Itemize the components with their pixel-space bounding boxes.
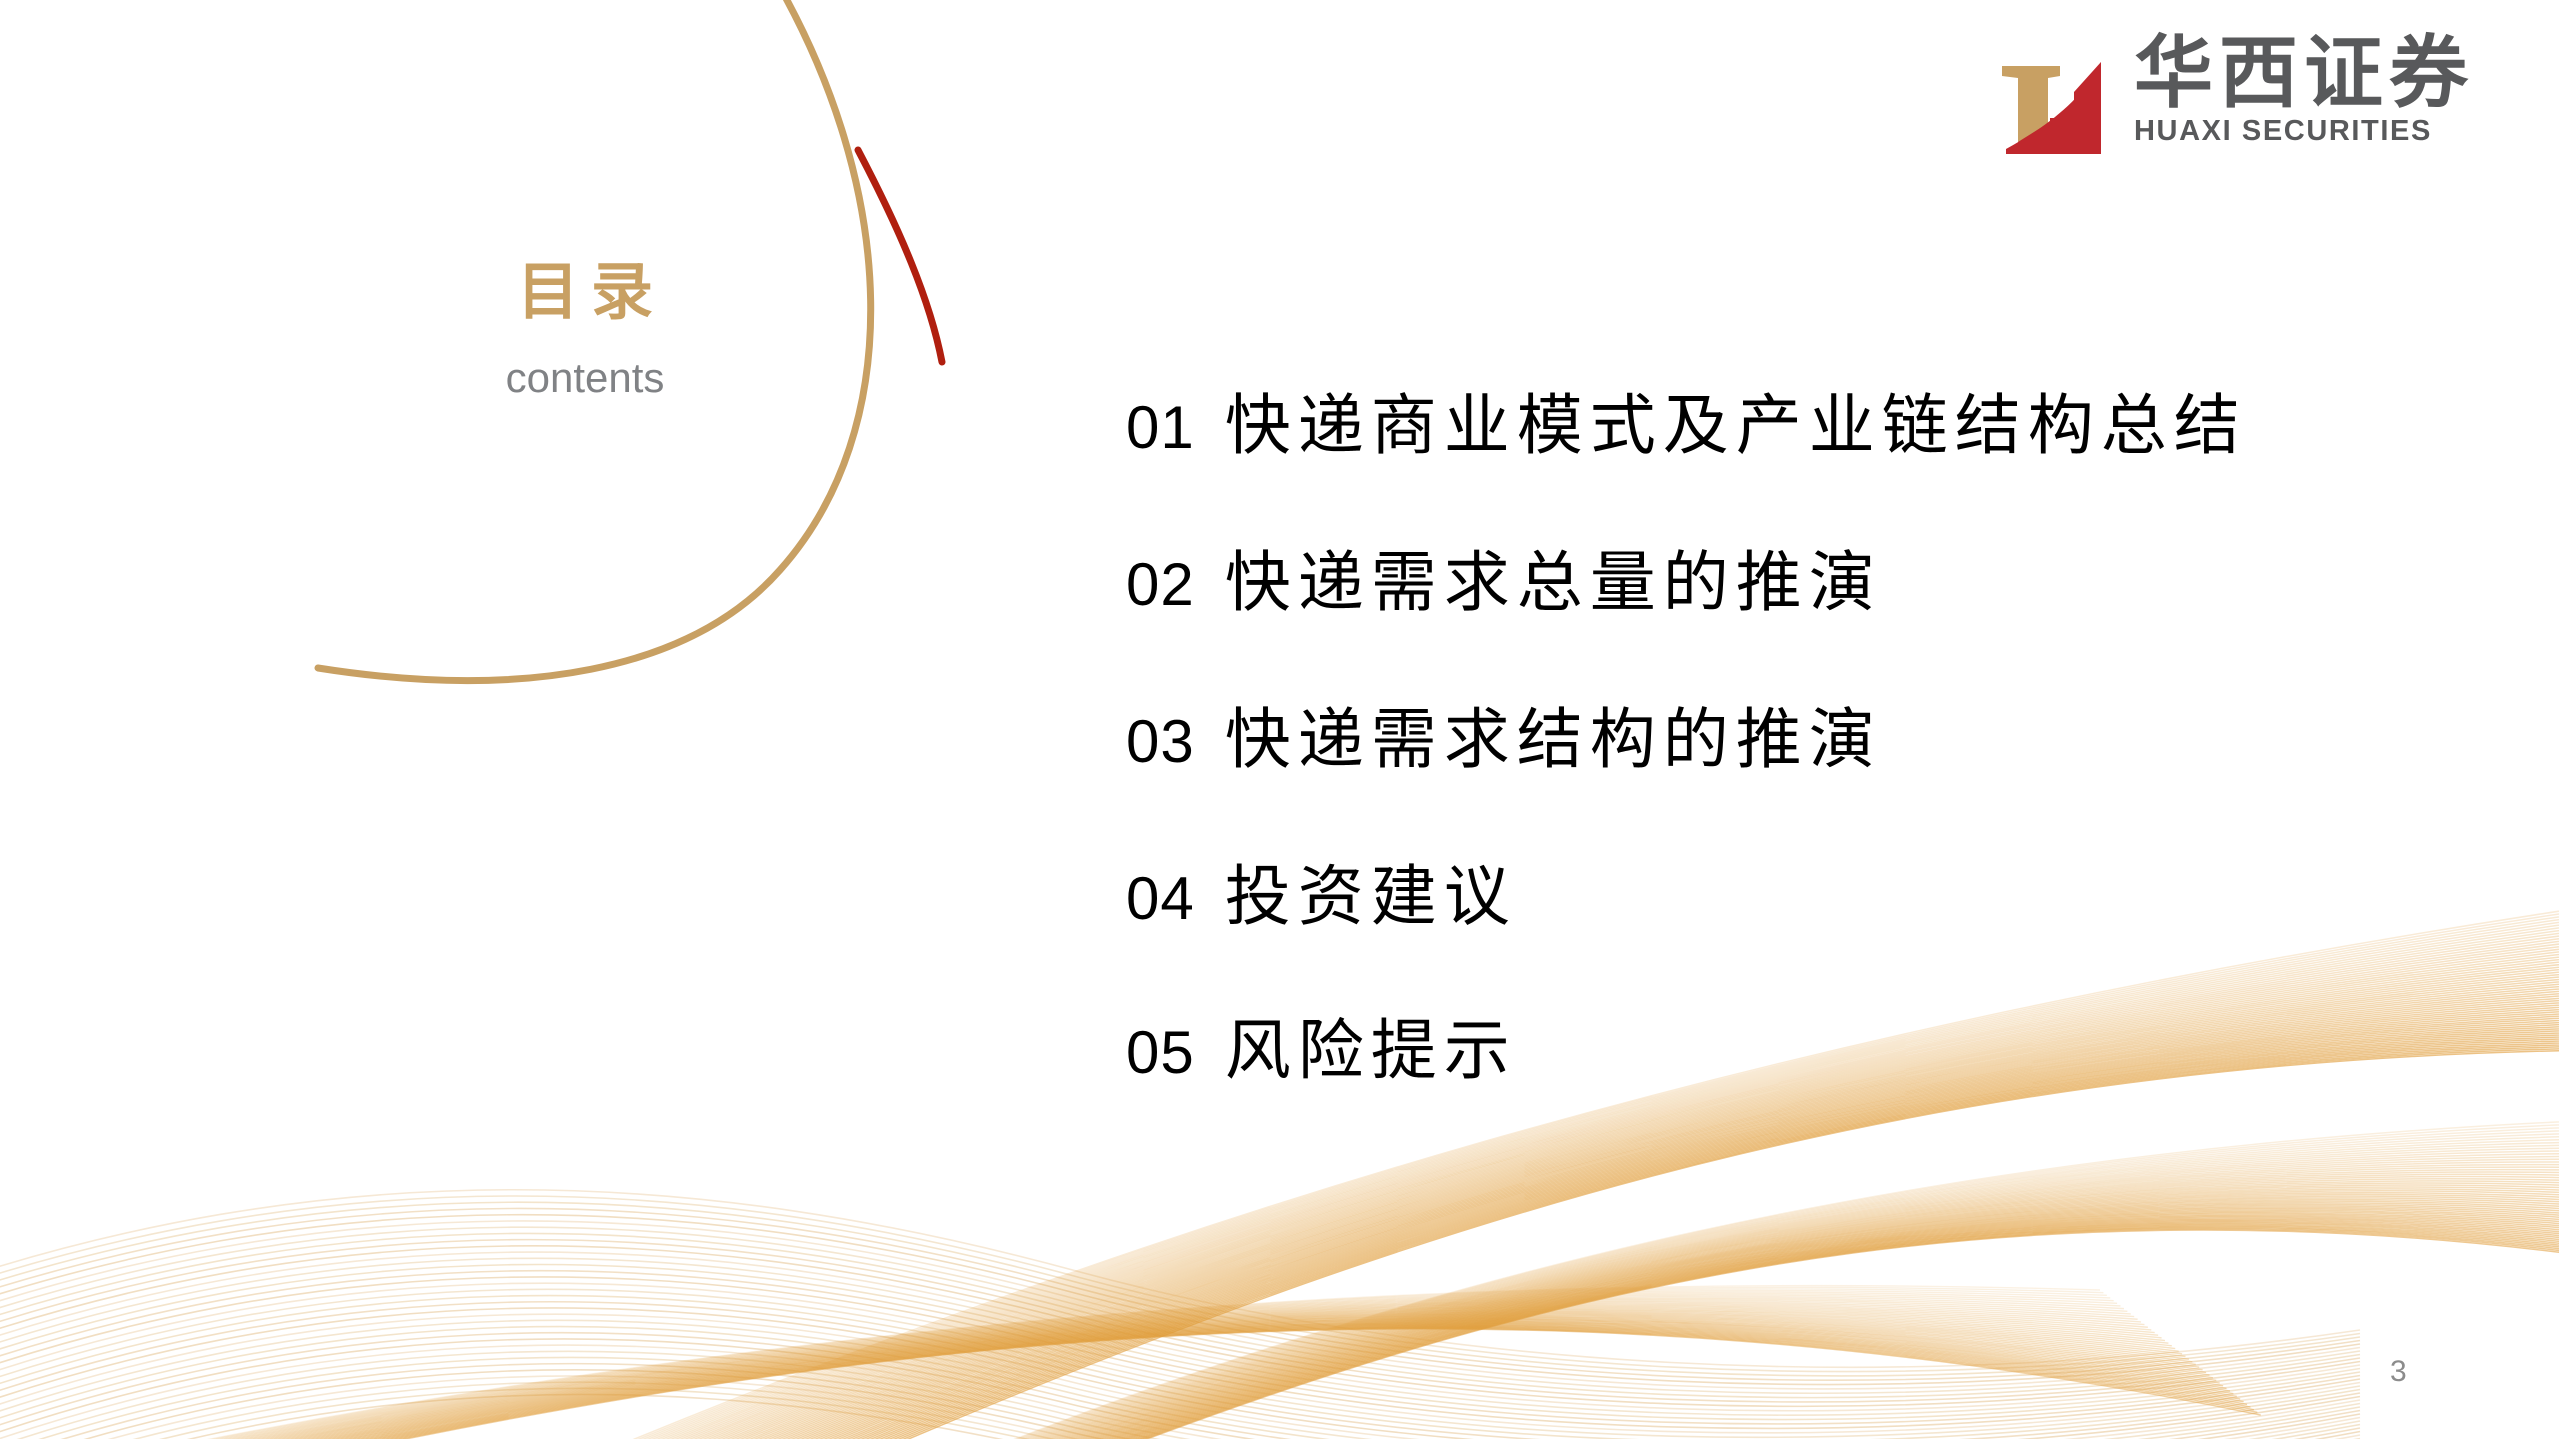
huaxi-logo-mark xyxy=(1988,30,2108,155)
agenda-number-05: 05 xyxy=(1126,1018,1195,1087)
agenda-label-03: 快递需求结构的推演 xyxy=(1225,686,1882,782)
agenda-item-02[interactable]: 02 快递需求总量的推演 xyxy=(1126,529,2376,633)
agenda-list: 01 快递商业模式及产业链结构总结 02 快递需求总量的推演 03 快递需求结构… xyxy=(1126,372,2376,1101)
agenda-number-01: 01 xyxy=(1126,393,1195,462)
brand-name-en: HUAXI SECURITIES xyxy=(2134,115,2474,148)
agenda-label-01: 快递商业模式及产业链结构总结 xyxy=(1225,372,2247,468)
page-number: 3 xyxy=(2390,1355,2407,1389)
agenda-number-04: 04 xyxy=(1126,864,1195,933)
toc-title-en: contents xyxy=(455,357,715,399)
agenda-label-04: 投资建议 xyxy=(1225,843,1517,939)
agenda-item-01[interactable]: 01 快递商业模式及产业链结构总结 xyxy=(1126,372,2376,476)
agenda-number-02: 02 xyxy=(1126,550,1195,619)
slide-canvas: 华西证券 HUAXI SECURITIES 目录 contents 01 快递商… xyxy=(0,0,2559,1439)
toc-title-cn: 目录 xyxy=(455,262,715,324)
agenda-item-04[interactable]: 04 投资建议 xyxy=(1126,843,2376,947)
agenda-label-05: 风险提示 xyxy=(1225,997,1517,1093)
agenda-item-03[interactable]: 03 快递需求结构的推演 xyxy=(1126,686,2376,790)
agenda-item-05[interactable]: 05 风险提示 xyxy=(1126,997,2376,1101)
brand-name-cn: 华西证券 xyxy=(2134,36,2474,113)
brand-logo: 华西证券 HUAXI SECURITIES xyxy=(1988,30,2528,160)
wave-lines-left xyxy=(0,1190,2360,1439)
red-accent-arc xyxy=(858,150,942,362)
toc-heading: 目录 contents xyxy=(455,262,715,399)
brand-wordmark: 华西证券 HUAXI SECURITIES xyxy=(2134,30,2474,148)
agenda-number-03: 03 xyxy=(1126,707,1195,776)
agenda-label-02: 快递需求总量的推演 xyxy=(1225,529,1882,625)
